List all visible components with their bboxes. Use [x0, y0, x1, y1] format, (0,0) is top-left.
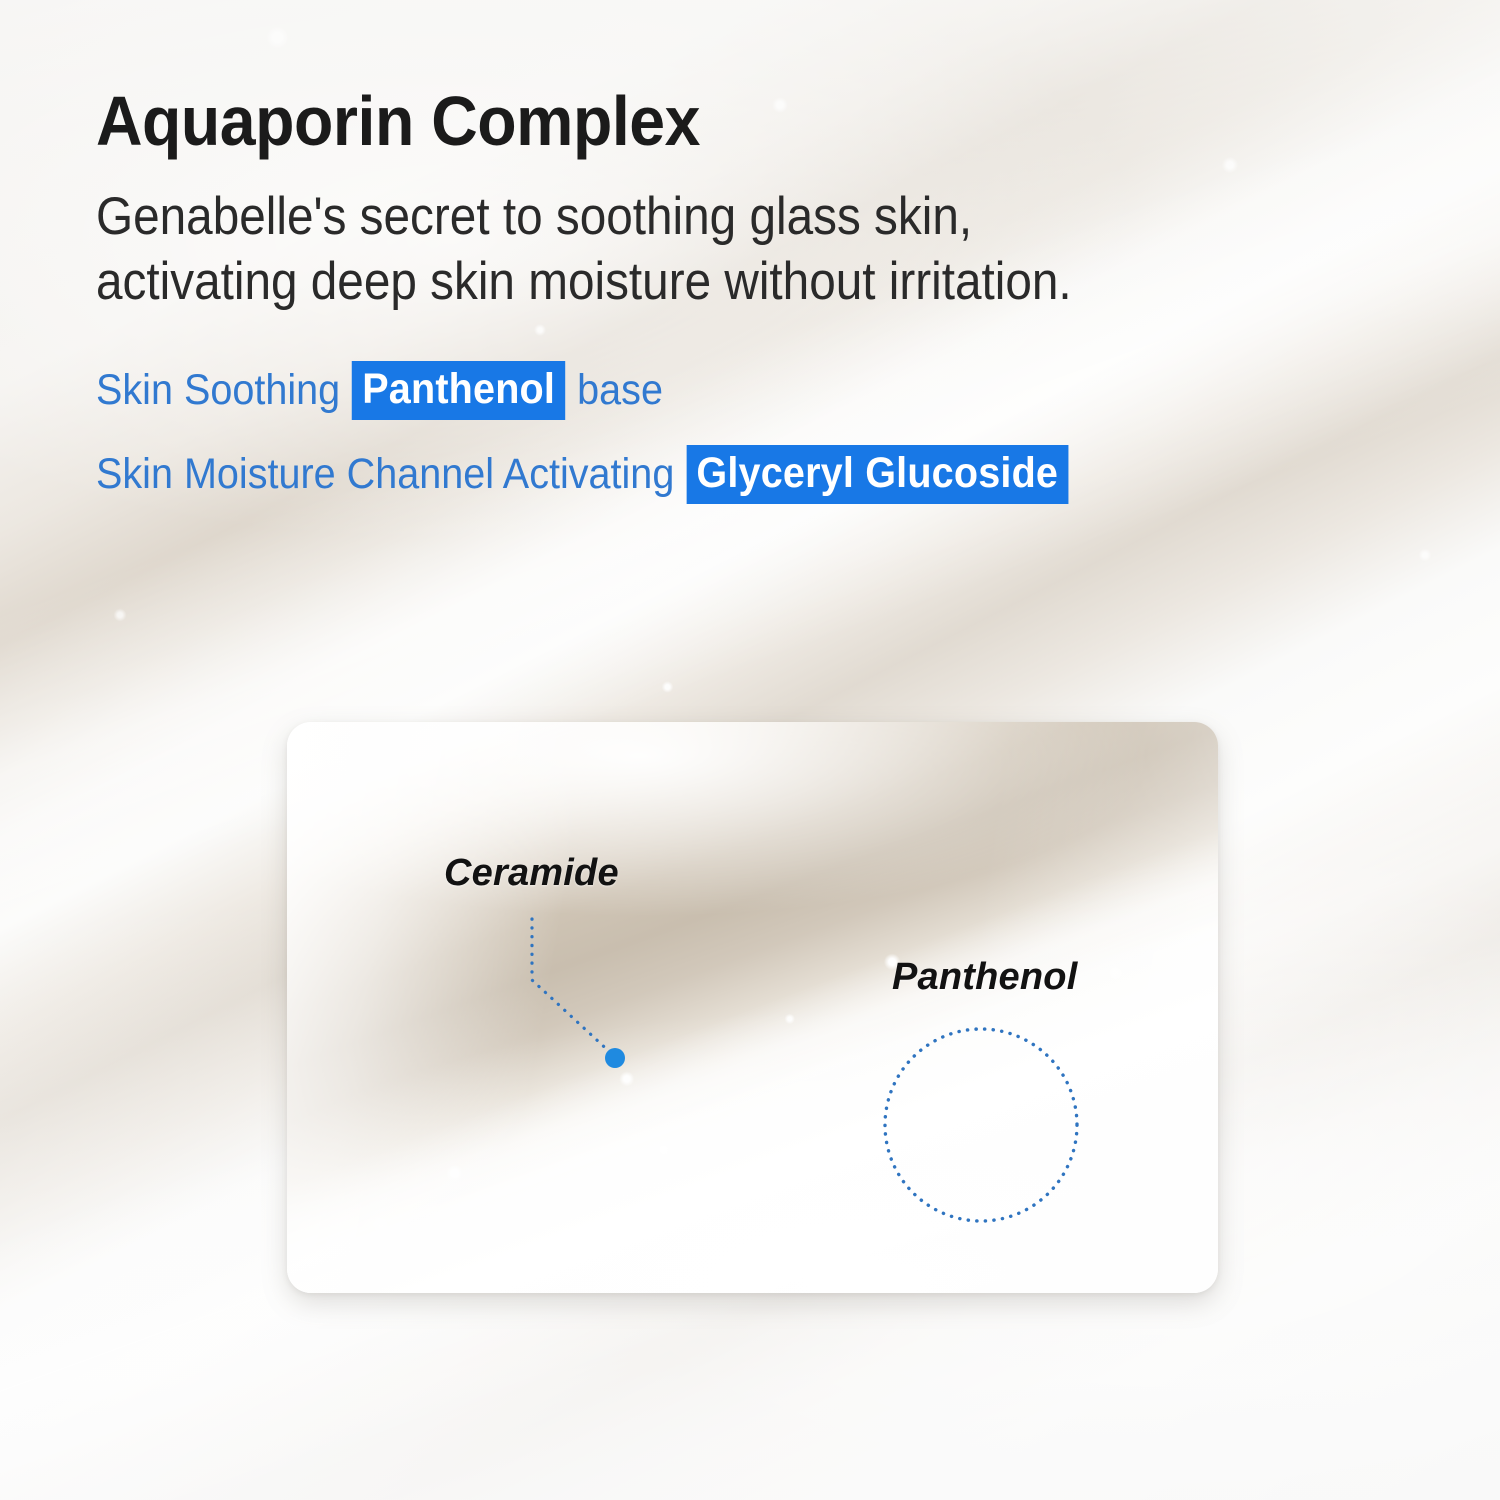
panthenol-label: Panthenol — [892, 956, 1077, 999]
feature-row-glyceryl-glucoside: Skin Moisture Channel Activating Glycery… — [96, 445, 1310, 504]
ceramide-label: Ceramide — [444, 852, 619, 895]
feature-highlight-panthenol: Panthenol — [352, 361, 565, 420]
feature-highlight-glyceryl-glucoside: Glyceryl Glucoside — [686, 445, 1068, 504]
inset-photo-card: Ceramide Panthenol — [287, 722, 1218, 1293]
cream-texture-photo — [287, 722, 1218, 1293]
feature-tail-text-1: base — [565, 369, 663, 412]
feature-lead-text-2: Skin Moisture Channel Activating — [96, 453, 686, 496]
feature-list: Skin Soothing Panthenol base Skin Moistu… — [96, 361, 1416, 504]
page-subtitle-line-1: Genabelle's secret to soothing glass ski… — [96, 185, 1284, 250]
feature-row-panthenol: Skin Soothing Panthenol base — [96, 361, 1310, 420]
page-title: Aquaporin Complex — [96, 86, 1310, 157]
feature-lead-text-1: Skin Soothing — [96, 369, 352, 412]
page-subtitle-line-2: activating deep skin moisture without ir… — [96, 250, 1284, 315]
hero-text-block: Aquaporin Complex Genabelle's secret to … — [96, 86, 1416, 504]
page-subtitle: Genabelle's secret to soothing glass ski… — [96, 185, 1284, 314]
